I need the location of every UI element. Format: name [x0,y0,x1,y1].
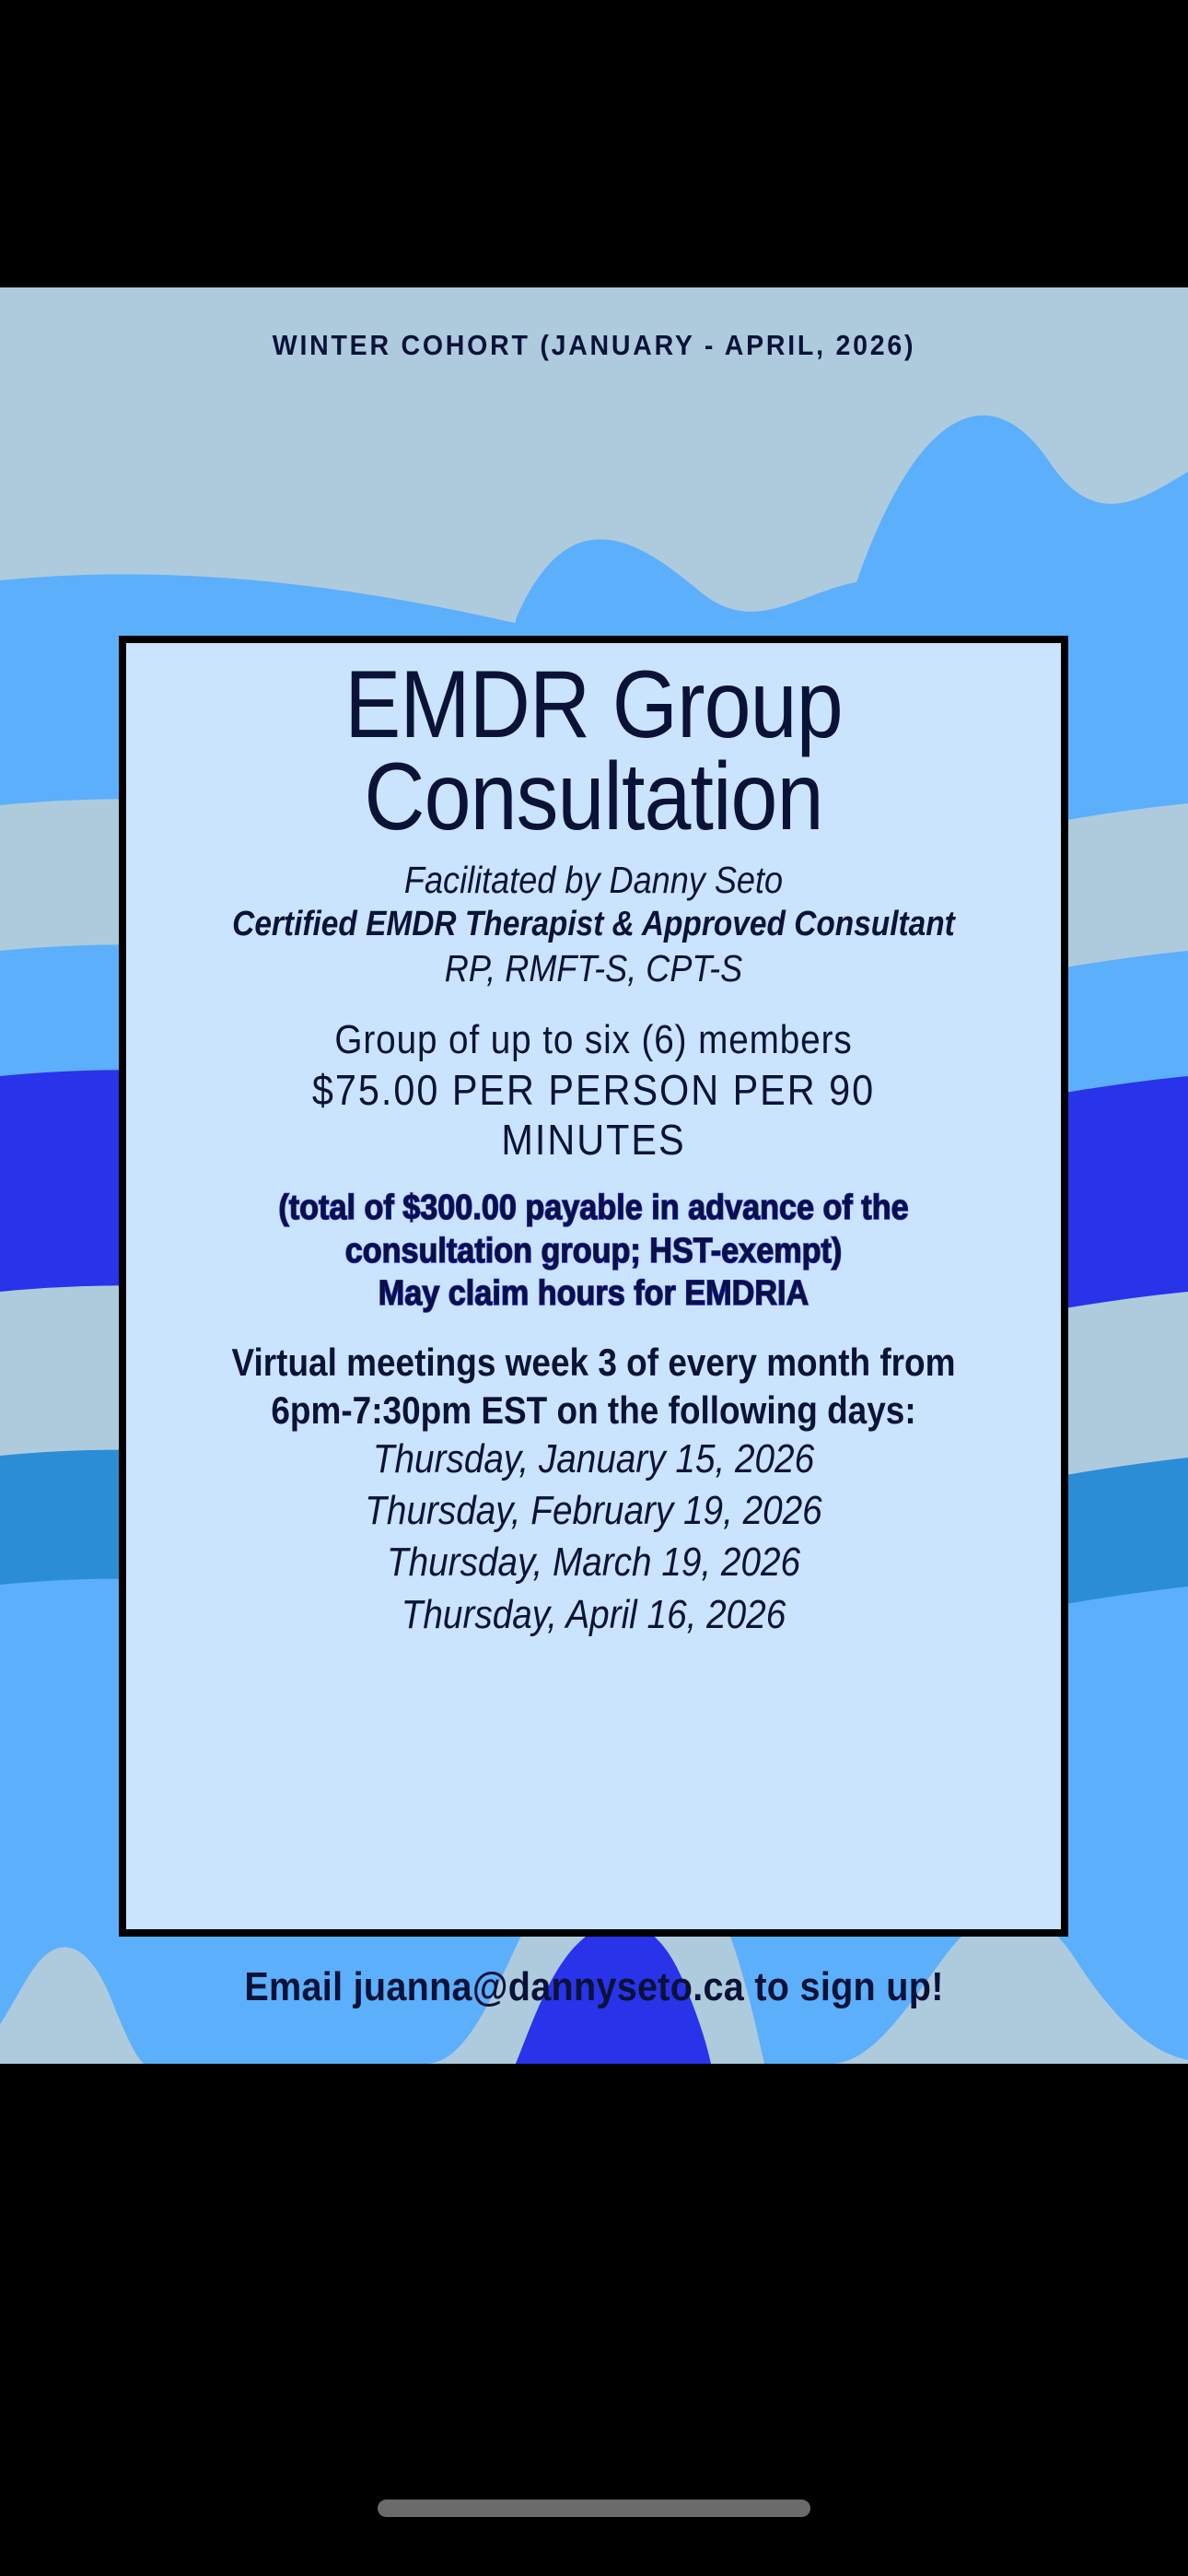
poster-card: EMDR Group Consultation Facilitated by D… [119,636,1068,1937]
designations-line: RP, RMFT-S, CPT-S [195,945,992,991]
meetings-schedule-line-1: Virtual meetings week 3 of every month f… [195,1339,992,1386]
signup-cta-line: Email juanna@dannyseto.ca to sign up! [60,1964,1129,2010]
price-line-1: $75.00 PER PERSON PER 90 [186,1065,1001,1115]
facilitated-by-line: Facilitated by Danny Seto [195,857,992,903]
meeting-date: Thursday, February 19, 2026 [195,1485,992,1537]
credentials-title-line: Certified EMDR Therapist & Approved Cons… [195,903,992,945]
payment-note-block: (total of $300.00 payable in advance of … [141,1187,1046,1315]
meeting-date: Thursday, March 19, 2026 [195,1537,992,1588]
emdria-hours-line: May claim hours for EMDRIA [186,1272,1001,1315]
page-title: EMDR Group Consultation [141,660,1046,844]
page-title-line-2: Consultation [195,752,992,844]
home-indicator[interactable] [378,2500,810,2517]
group-pricing-block: Group of up to six (6) members $75.00 PE… [141,1015,1046,1165]
payment-note-line-1: (total of $300.00 payable in advance of … [186,1187,1001,1229]
page-title-line-1: EMDR Group [195,660,992,752]
meeting-date: Thursday, January 15, 2026 [195,1434,992,1485]
group-size-line: Group of up to six (6) members [195,1015,992,1065]
meetings-block: Virtual meetings week 3 of every month f… [141,1339,1046,1641]
payment-note-line-2: consultation group; HST-exempt) [186,1230,1001,1272]
phone-screen: WINTER COHORT (JANUARY - APRIL, 2026) EM… [0,0,1188,2576]
meetings-schedule-line-2: 6pm-7:30pm EST on the following days: [195,1387,992,1434]
meeting-date: Thursday, April 16, 2026 [195,1589,992,1641]
price-line-2: MINUTES [186,1115,1001,1165]
facilitator-block: Facilitated by Danny Seto Certified EMDR… [141,857,1046,991]
cohort-header: WINTER COHORT (JANUARY - APRIL, 2026) [48,329,1141,362]
poster-image: WINTER COHORT (JANUARY - APRIL, 2026) EM… [0,287,1188,2064]
